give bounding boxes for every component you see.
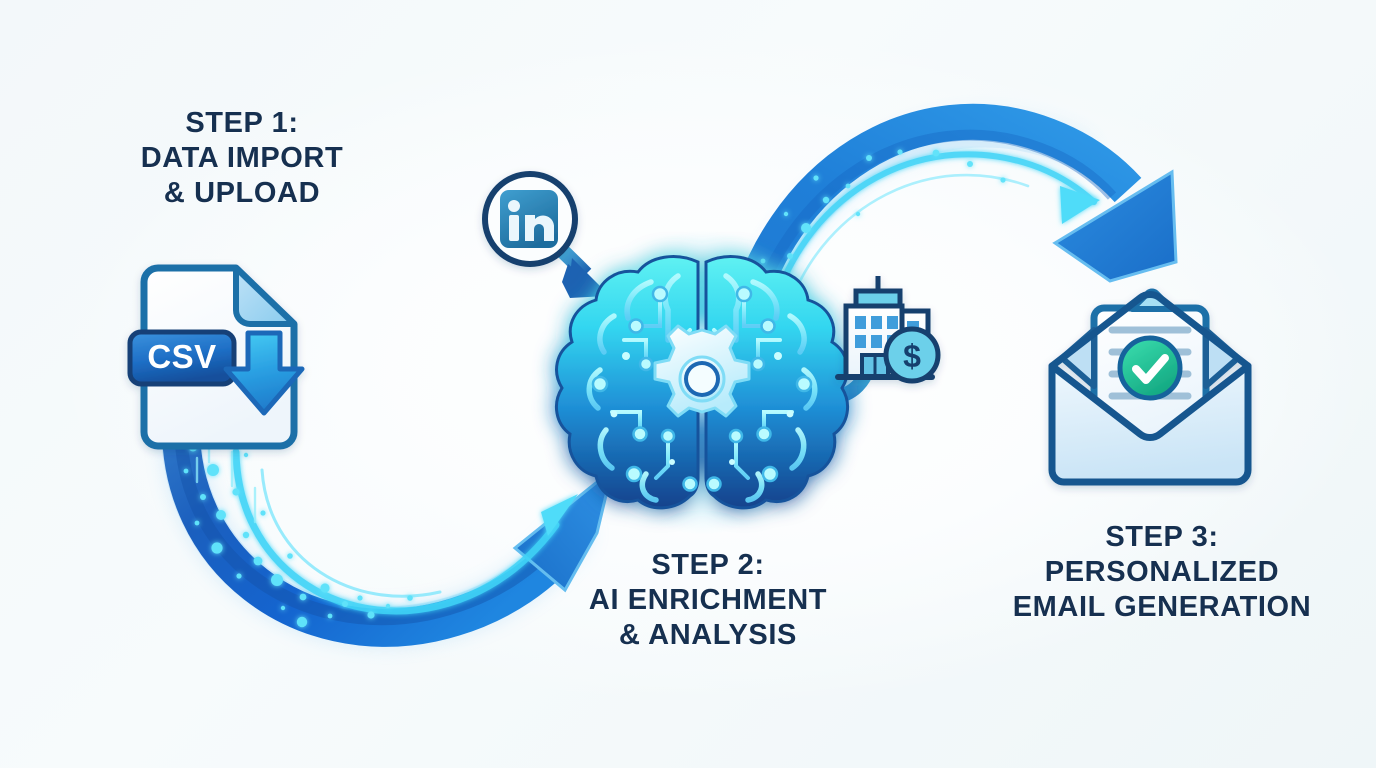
diagram-canvas: CSV (0, 0, 1376, 768)
step-2-label: Step 2: AI Enrichment & Analysis (560, 548, 856, 653)
step-3-label: Step 3: Personalized Email Generation (982, 520, 1342, 625)
dollar-glyph: $ (903, 338, 921, 374)
circuit-brain-gear-icon (556, 257, 847, 508)
csv-file-download-icon: CSV (130, 268, 302, 446)
linkedin-icon (485, 174, 575, 264)
company-building-dollar-icon: $ (838, 276, 938, 381)
gear-icon (655, 326, 749, 416)
open-envelope-check-icon (1044, 291, 1256, 482)
step-1-label: Step 1: Data Import & Upload (96, 106, 388, 211)
csv-badge-text: CSV (147, 338, 216, 375)
